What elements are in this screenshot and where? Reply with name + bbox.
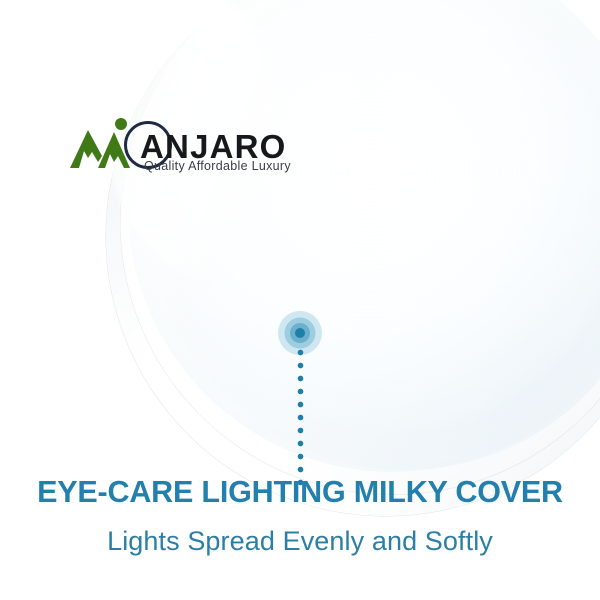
lamp-diffuser-face xyxy=(128,0,600,472)
lamp-tint-overlay xyxy=(150,0,600,470)
page-subtitle: Lights Spread Evenly and Softly xyxy=(0,528,600,555)
dotted-line-icon xyxy=(295,346,306,486)
product-lamp-image xyxy=(0,0,600,600)
brand-logo: ANJARO Quality Affordable Luxury xyxy=(68,112,283,184)
ripple-center-dot xyxy=(295,328,305,338)
brand-tagline: Quality Affordable Luxury xyxy=(144,160,291,173)
product-banner: ANJARO Quality Affordable Luxury EYE-CAR… xyxy=(0,0,600,600)
lamp-inner-glow xyxy=(168,0,600,432)
lamp-outer-rim xyxy=(106,0,600,516)
lamp-inner-rim xyxy=(120,0,600,495)
page-title: EYE-CARE LIGHTING MILKY COVER xyxy=(0,477,600,508)
lamp-edge-shading xyxy=(108,0,600,514)
